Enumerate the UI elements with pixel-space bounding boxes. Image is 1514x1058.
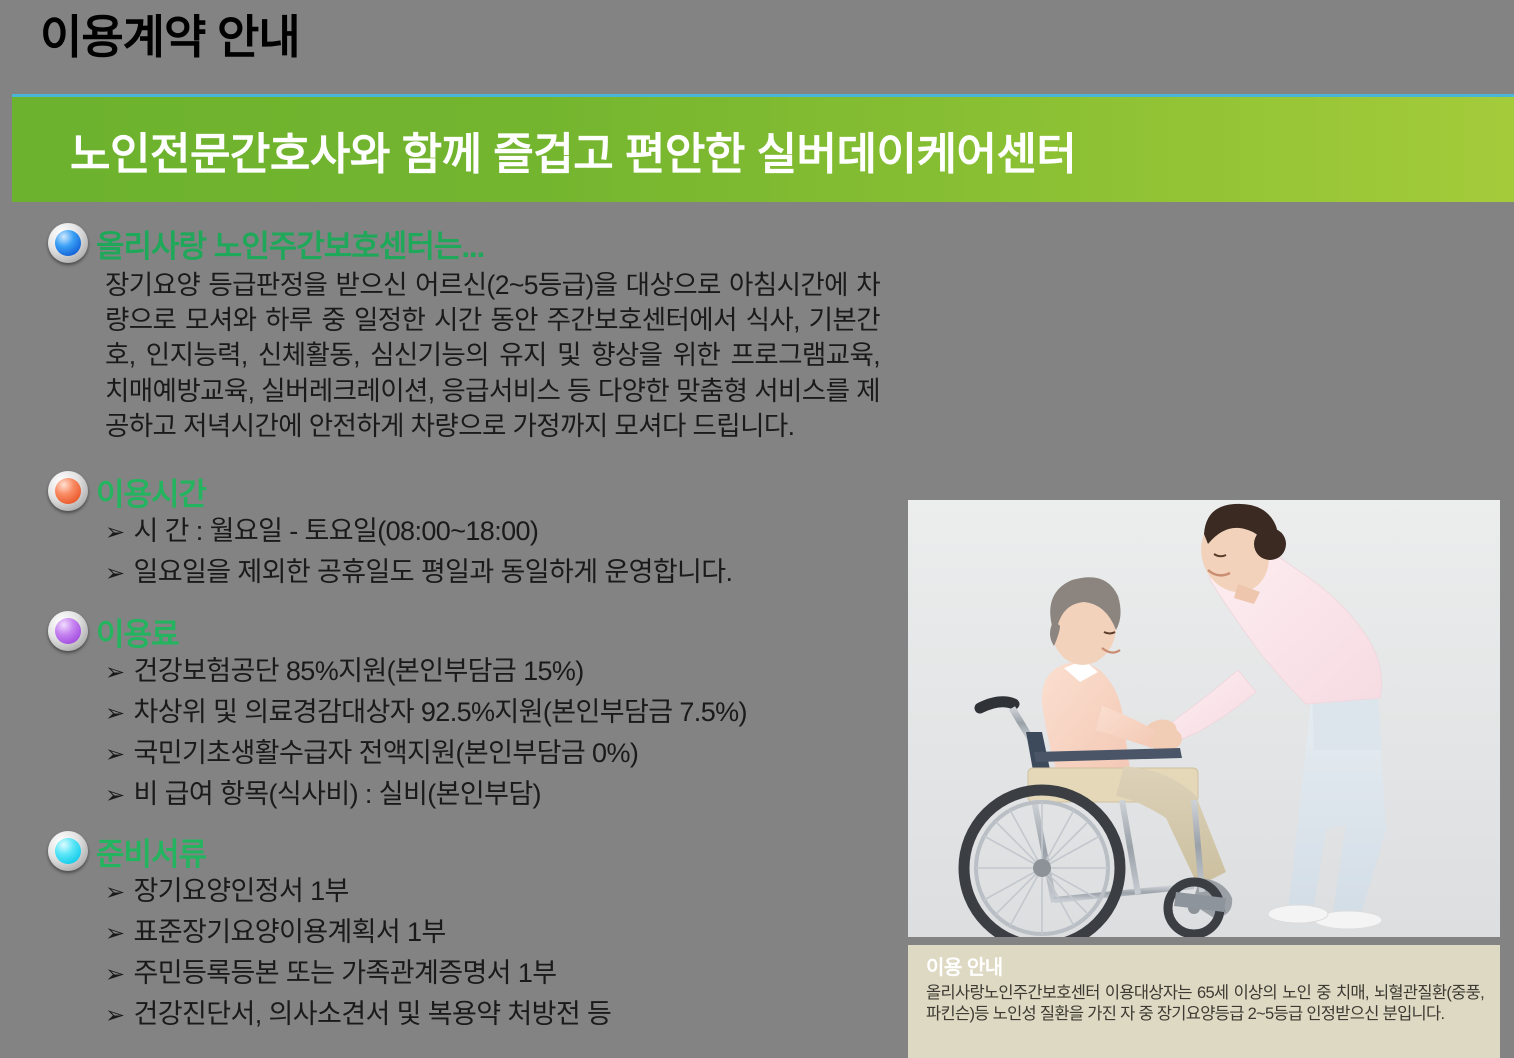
list-item: ➢ 표준장기요양이용계획서 1부 bbox=[105, 919, 900, 946]
section-hours-list: ➢ 시 간 : 월요일 - 토요일(08:00~18:00) ➢ 일요일을 제외… bbox=[0, 518, 900, 586]
section-fees-title: 이용료 bbox=[96, 609, 179, 654]
list-item-label: 건강보험공단 85%지원(본인부담금 15%) bbox=[134, 658, 584, 685]
photo-caption-box: 이용 안내 올리사랑노인주간보호센터 이용대상자는 65세 이상의 노인 중 치… bbox=[908, 945, 1500, 1058]
section-fees: 이용료 ➢ 건강보험공단 85%지원(본인부담금 15%) ➢ 차상위 및 의료… bbox=[0, 608, 900, 808]
section-intro-paragraph: 장기요양 등급판정을 받으신 어르신(2~5등급)을 대상으로 아침시간에 차량… bbox=[0, 268, 900, 444]
section-documents-list: ➢ 장기요양인정서 1부 ➢ 표준장기요양이용계획서 1부 ➢ 주민등록등본 또… bbox=[0, 878, 900, 1028]
list-item-label: 주민등록등본 또는 가족관계증명서 1부 bbox=[134, 960, 557, 987]
photo-illustration bbox=[908, 500, 1500, 937]
section-hours-title: 이용시간 bbox=[96, 469, 206, 514]
section-fees-list: ➢ 건강보험공단 85%지원(본인부담금 15%) ➢ 차상위 및 의료경감대상… bbox=[0, 658, 900, 808]
list-item-label: 비 급여 항목(식사비) : 실비(본인부담) bbox=[134, 781, 541, 808]
caregiver-and-elderly-woman-in-wheelchair-photo bbox=[908, 500, 1500, 937]
arrow-bullet-icon: ➢ bbox=[105, 743, 125, 767]
arrow-bullet-icon: ➢ bbox=[105, 963, 125, 987]
list-item: ➢ 비 급여 항목(식사비) : 실비(본인부담) bbox=[105, 781, 900, 808]
section-intro-title: 올리사랑 노인주간보호센터는... bbox=[96, 221, 484, 266]
section-documents-title: 준비서류 bbox=[96, 829, 206, 874]
caption-title: 이용 안내 bbox=[926, 957, 1484, 980]
section-documents-header: 준비서류 bbox=[0, 828, 900, 874]
banner-headline: 노인전문간호사와 함께 즐겁고 편안한 실버데이케어센터 bbox=[12, 118, 1076, 182]
list-item-label: 건강진단서, 의사소견서 및 복용약 처방전 등 bbox=[134, 1001, 612, 1028]
section-intro: 올리사랑 노인주간보호센터는... 장기요양 등급판정을 받으신 어르신(2~5… bbox=[0, 220, 900, 444]
list-item: ➢ 주민등록등본 또는 가족관계증명서 1부 bbox=[105, 960, 900, 987]
list-item: ➢ 건강진단서, 의사소견서 및 복용약 처방전 등 bbox=[105, 1001, 900, 1028]
arrow-bullet-icon: ➢ bbox=[105, 784, 125, 808]
list-item: ➢ 차상위 및 의료경감대상자 92.5%지원(본인부담금 7.5%) bbox=[105, 699, 900, 726]
arrow-bullet-icon: ➢ bbox=[105, 521, 125, 545]
orange-orb-icon bbox=[48, 471, 88, 511]
list-item-label: 장기요양인정서 1부 bbox=[134, 878, 349, 905]
caption-body: 올리사랑노인주간보호센터 이용대상자는 65세 이상의 노인 중 치매, 뇌혈관… bbox=[926, 983, 1484, 1026]
arrow-bullet-icon: ➢ bbox=[105, 1004, 125, 1028]
arrow-bullet-icon: ➢ bbox=[105, 881, 125, 905]
arrow-bullet-icon: ➢ bbox=[105, 661, 125, 685]
arrow-bullet-icon: ➢ bbox=[105, 562, 125, 586]
main-content: 올리사랑 노인주간보호센터는... 장기요양 등급판정을 받으신 어르신(2~5… bbox=[0, 216, 900, 1042]
headline-banner: 노인전문간호사와 함께 즐겁고 편안한 실버데이케어센터 bbox=[12, 97, 1514, 202]
arrow-bullet-icon: ➢ bbox=[105, 702, 125, 726]
arrow-bullet-icon: ➢ bbox=[105, 922, 125, 946]
page-title: 이용계약 안내 bbox=[40, 14, 300, 60]
section-fees-header: 이용료 bbox=[0, 608, 900, 654]
list-item: ➢ 장기요양인정서 1부 bbox=[105, 878, 900, 905]
list-item-label: 차상위 및 의료경감대상자 92.5%지원(본인부담금 7.5%) bbox=[134, 699, 747, 726]
section-hours: 이용시간 ➢ 시 간 : 월요일 - 토요일(08:00~18:00) ➢ 일요… bbox=[0, 468, 900, 586]
section-hours-header: 이용시간 bbox=[0, 468, 900, 514]
list-item-label: 일요일을 제외한 공휴일도 평일과 동일하게 운영합니다. bbox=[134, 559, 733, 586]
list-item-label: 시 간 : 월요일 - 토요일(08:00~18:00) bbox=[134, 518, 539, 545]
list-item-label: 표준장기요양이용계획서 1부 bbox=[134, 919, 446, 946]
list-item: ➢ 시 간 : 월요일 - 토요일(08:00~18:00) bbox=[105, 518, 900, 545]
section-documents: 준비서류 ➢ 장기요양인정서 1부 ➢ 표준장기요양이용계획서 1부 ➢ 주민등… bbox=[0, 828, 900, 1028]
cyan-orb-icon bbox=[48, 831, 88, 871]
list-item: ➢ 일요일을 제외한 공휴일도 평일과 동일하게 운영합니다. bbox=[105, 559, 900, 586]
blue-orb-icon bbox=[48, 223, 88, 263]
section-intro-header: 올리사랑 노인주간보호센터는... bbox=[0, 220, 900, 266]
list-item: ➢ 건강보험공단 85%지원(본인부담금 15%) bbox=[105, 658, 900, 685]
list-item: ➢ 국민기초생활수급자 전액지원(본인부담금 0%) bbox=[105, 740, 900, 767]
purple-orb-icon bbox=[48, 611, 88, 651]
list-item-label: 국민기초생활수급자 전액지원(본인부담금 0%) bbox=[134, 740, 639, 767]
